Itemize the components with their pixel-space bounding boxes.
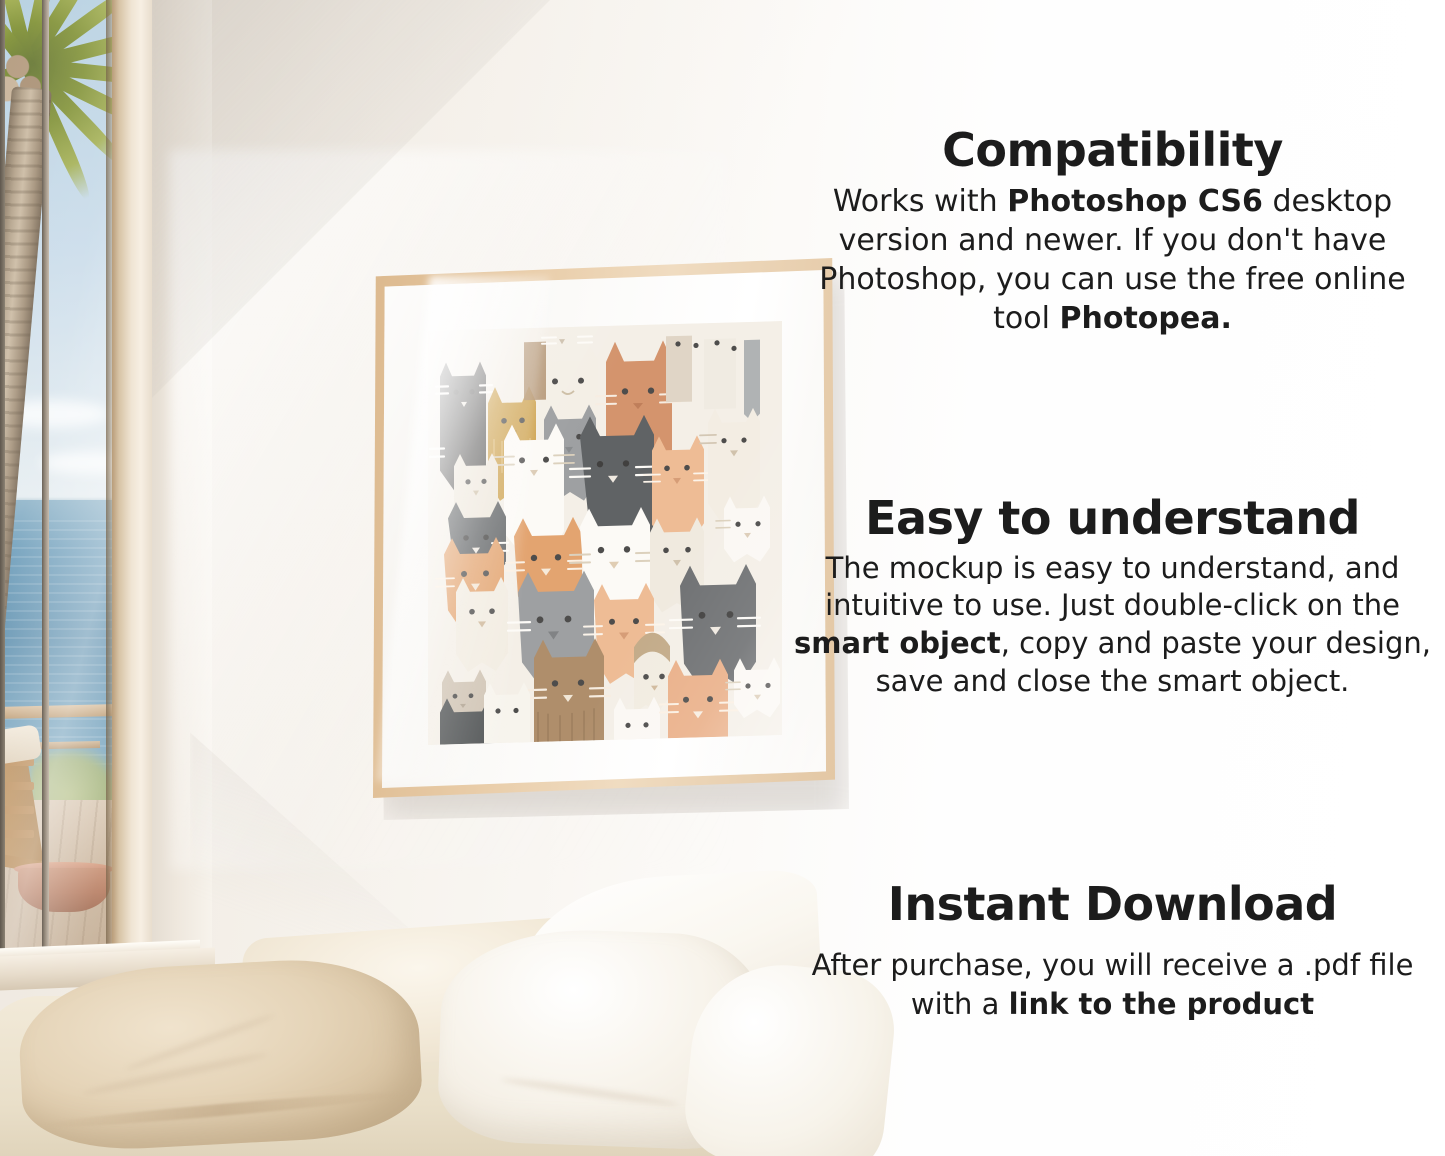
heading-instant-download: Instant Download [780, 880, 1445, 930]
window-mullion-center [42, 0, 49, 980]
body-compatibility: Works with Photoshop CS6 desktop version… [780, 182, 1445, 338]
framed-artwork[interactable] [373, 258, 838, 810]
sofa [0, 876, 800, 1156]
body-text: Works with [833, 184, 1007, 219]
window-jamb [112, 0, 152, 980]
cats-pattern-illustration [428, 321, 782, 745]
body-easy-to-understand: The mockup is easy to understand, and in… [780, 550, 1445, 701]
emphasis-text: smart object [794, 626, 1001, 660]
mockup-scene: Compatibility Works with Photoshop CS6 d… [0, 0, 1445, 1156]
heading-easy-to-understand: Easy to understand [780, 494, 1445, 544]
emphasis-text: link to the product [1009, 987, 1315, 1021]
chair-slat [0, 830, 34, 838]
mat-window [382, 270, 826, 788]
section-instant-download: Instant Download After purchase, you wil… [780, 880, 1445, 1023]
section-easy-to-understand: Easy to understand The mockup is easy to… [780, 494, 1445, 700]
emphasis-text: Photoshop CS6 [1007, 184, 1263, 219]
chair-slat [0, 782, 34, 790]
window-mullion-left [0, 0, 5, 980]
body-instant-download: After purchase, you will receive a .pdf … [780, 946, 1445, 1024]
art-print [428, 321, 782, 745]
body-text: The mockup is easy to understand, and in… [825, 551, 1400, 623]
heading-compatibility: Compatibility [780, 126, 1445, 176]
window [0, 0, 152, 980]
chair-cushion [0, 724, 42, 766]
info-panel: Compatibility Works with Photoshop CS6 d… [780, 0, 1445, 1156]
section-compatibility: Compatibility Works with Photoshop CS6 d… [780, 126, 1445, 338]
chair-slat [0, 806, 34, 814]
emphasis-text: Photopea. [1059, 301, 1231, 336]
